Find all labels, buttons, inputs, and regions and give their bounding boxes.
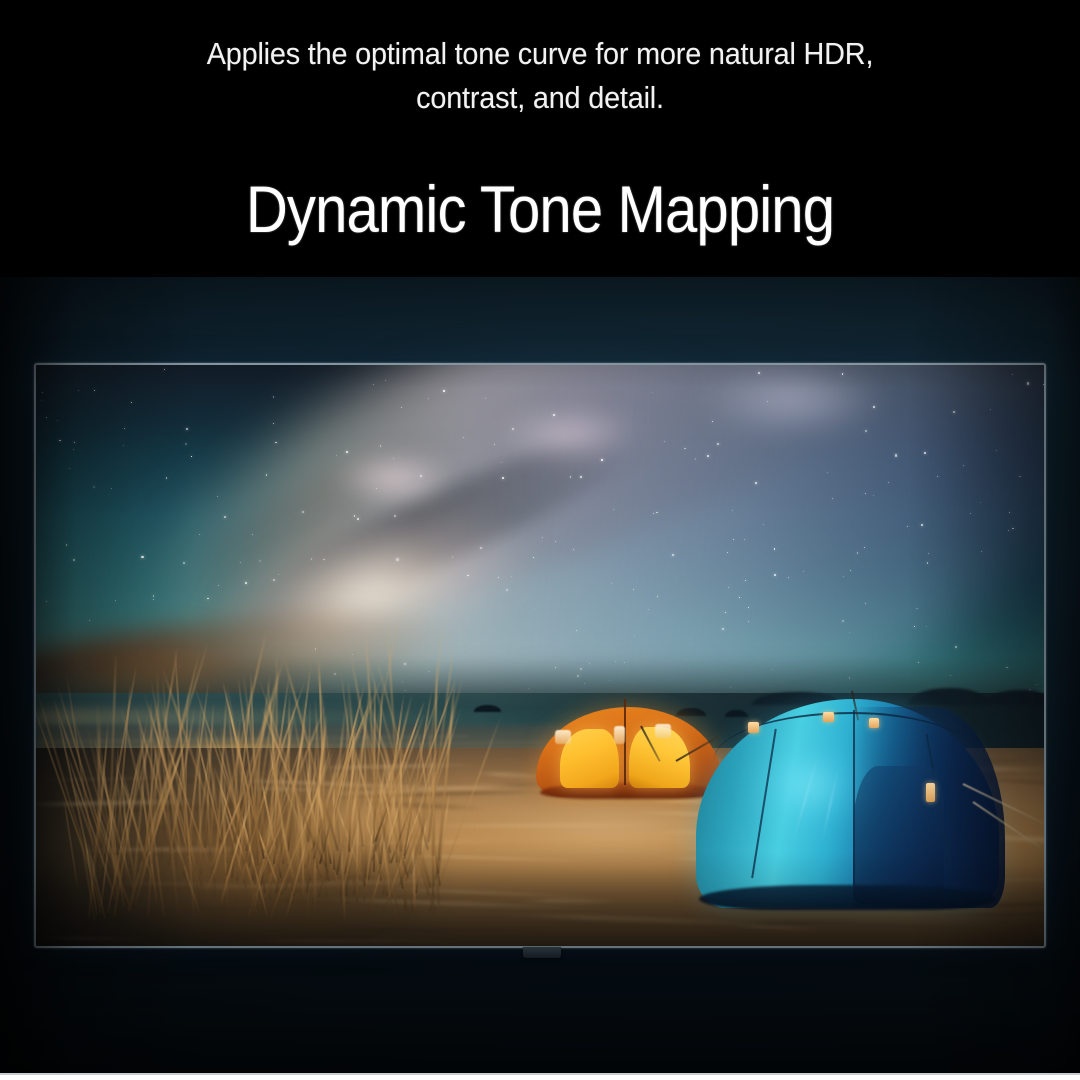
header-band: Applies the optimal tone curve for more … [0,0,1080,277]
feature-subtitle: Applies the optimal tone curve for more … [38,32,1042,120]
feature-title: Dynamic Tone Mapping [65,171,1015,247]
page-root: Applies the optimal tone curve for more … [0,0,1080,1080]
bottom-margin [0,1075,1080,1080]
lg-logo-nub [523,947,561,958]
